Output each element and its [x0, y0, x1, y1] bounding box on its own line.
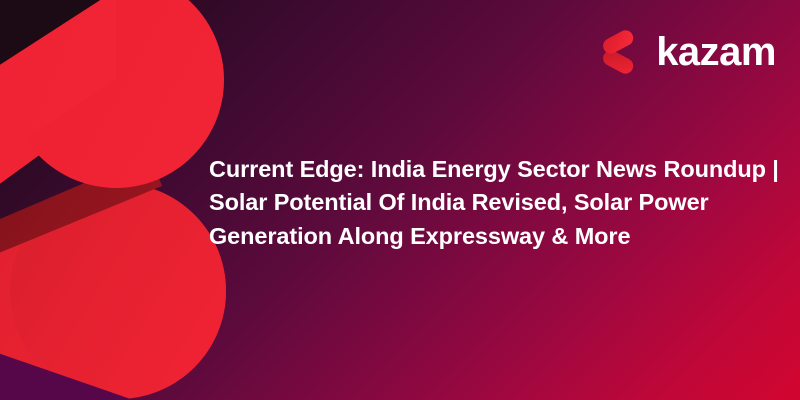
- page-title-line-1: Current Edge: India Energy Sector News R…: [209, 153, 769, 186]
- kazam-chevron-icon: [594, 27, 644, 77]
- page-title-line-2: Solar Potential Of India Revised, Solar …: [209, 186, 769, 219]
- page-title-line-3: Generation Along Expressway & More: [209, 220, 769, 253]
- blog-banner: kazam Current Edge: India Energy Sector …: [0, 0, 800, 400]
- kazam-logo[interactable]: kazam: [594, 27, 776, 77]
- page-title: Current Edge: India Energy Sector News R…: [209, 153, 769, 253]
- kazam-wordmark: kazam: [656, 32, 776, 72]
